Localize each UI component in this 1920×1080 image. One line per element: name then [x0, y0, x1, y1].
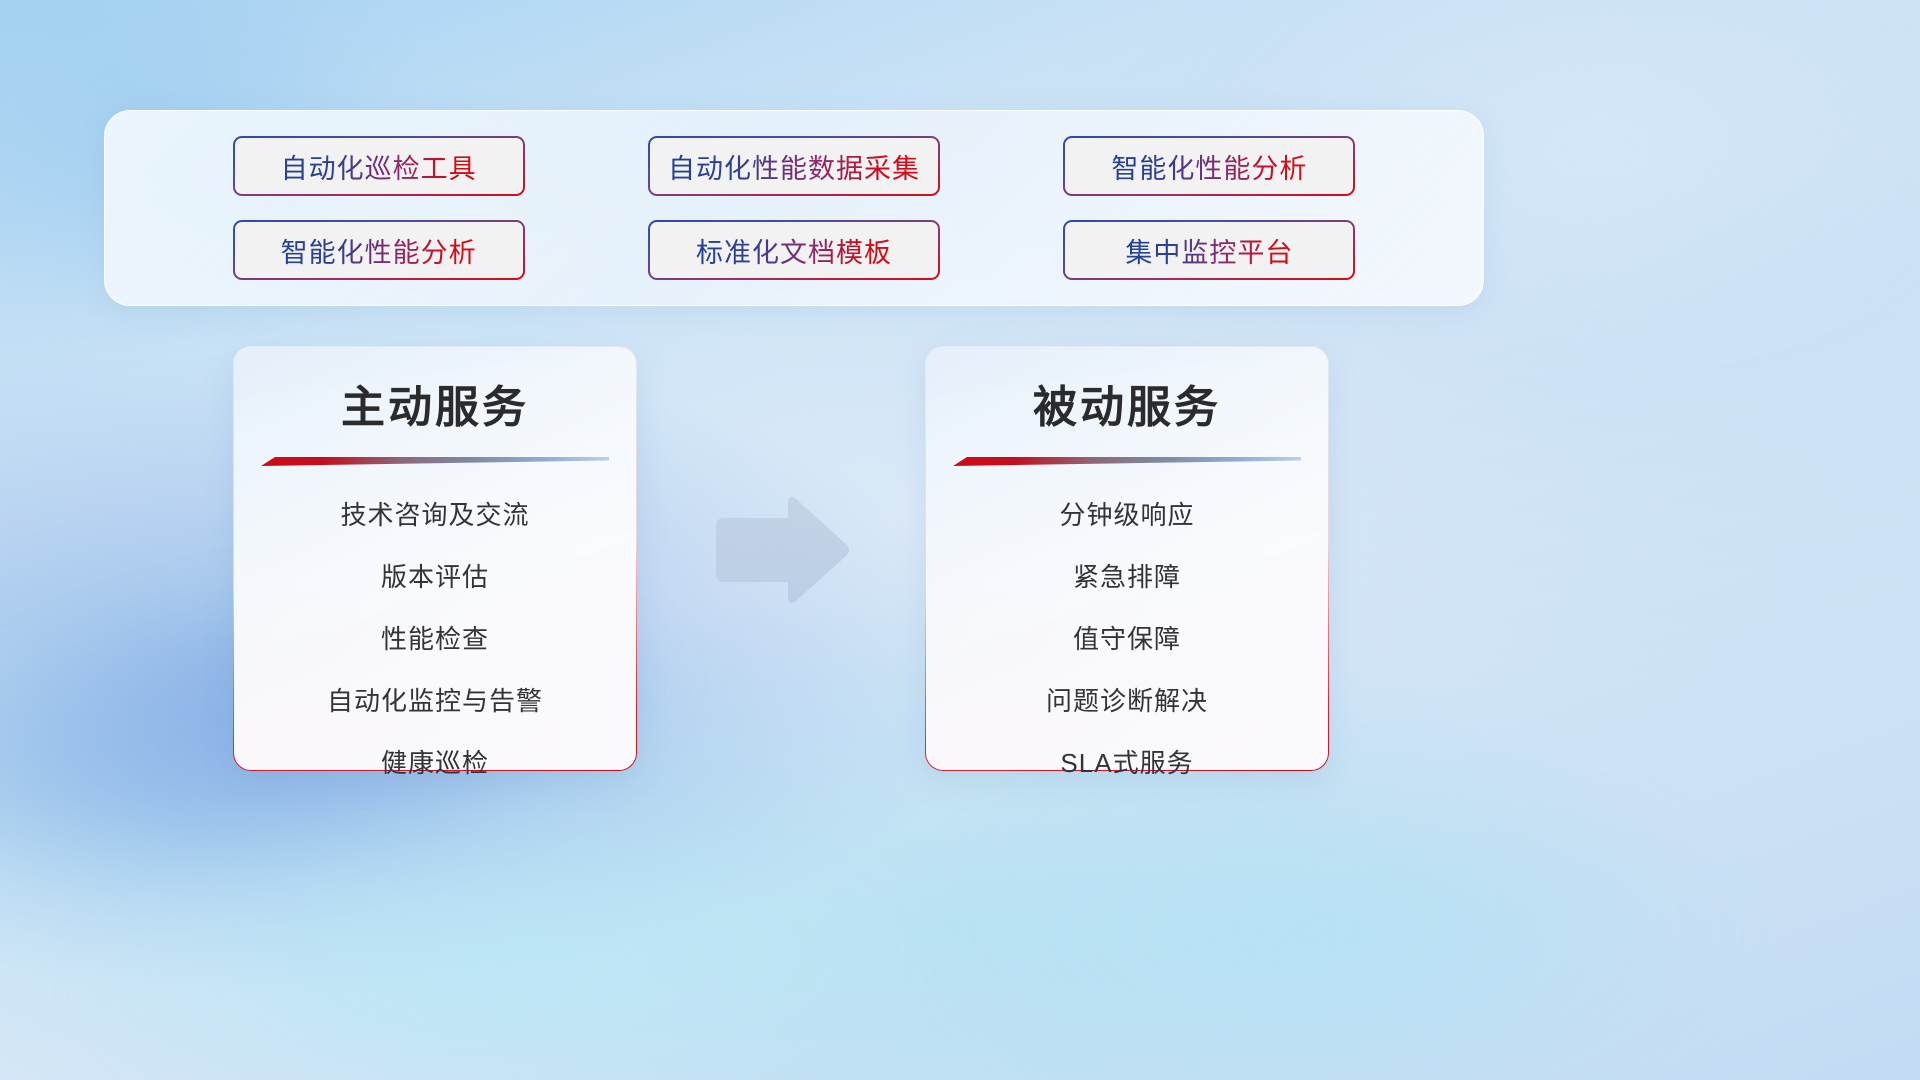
card-item-list: 技术咨询及交流 版本评估 性能检查 自动化监控与告警 健康巡检 [234, 495, 636, 780]
capability-pill-label: 自动化性能数据采集 [668, 147, 920, 186]
card-divider [953, 455, 1301, 469]
service-card-reactive: 被动服务 分钟级响应 紧急排障 值守保障 [925, 346, 1329, 771]
right-arrow-icon [712, 496, 852, 604]
capability-pill-label: 标准化文档模板 [696, 231, 892, 270]
card-item-list: 分钟级响应 紧急排障 值守保障 问题诊断解决 SLA式服务 [926, 495, 1328, 780]
card-list-item: 紧急排障 [1073, 557, 1181, 594]
card-list-item: 技术咨询及交流 [340, 495, 529, 532]
capability-pill-label: 智能化性能分析 [1111, 147, 1307, 186]
card-list-item: 健康巡检 [381, 743, 489, 780]
capability-pill[interactable]: 自动化性能数据采集 [648, 136, 940, 196]
card-list-item: 版本评估 [381, 557, 489, 594]
card-list-item: 值守保障 [1073, 619, 1181, 656]
capabilities-panel: 自动化巡检工具 自动化性能数据采集 智能化性能分析 智能化性能分析 标准化文档模… [104, 110, 1484, 306]
capability-pill-grid: 自动化巡检工具 自动化性能数据采集 智能化性能分析 智能化性能分析 标准化文档模… [105, 111, 1483, 305]
capability-pill[interactable]: 智能化性能分析 [1063, 136, 1355, 196]
capability-pill-label: 智能化性能分析 [281, 231, 477, 270]
capability-pill[interactable]: 标准化文档模板 [648, 220, 940, 280]
capability-pill[interactable]: 自动化巡检工具 [233, 136, 525, 196]
card-list-item: 性能检查 [381, 619, 489, 656]
card-list-item: 自动化监控与告警 [327, 681, 543, 718]
card-title: 被动服务 [926, 371, 1328, 435]
slide-canvas: 自动化巡检工具 自动化性能数据采集 智能化性能分析 智能化性能分析 标准化文档模… [0, 0, 1920, 1080]
capability-pill[interactable]: 智能化性能分析 [233, 220, 525, 280]
capability-pill-label: 自动化巡检工具 [281, 147, 477, 186]
card-list-item: 问题诊断解决 [1046, 681, 1208, 718]
card-list-item: SLA式服务 [1060, 743, 1193, 780]
card-title: 主动服务 [234, 371, 636, 435]
service-card-proactive: 主动服务 技术咨询及交流 版本评估 性能检查 [233, 346, 637, 771]
card-divider [261, 455, 609, 469]
capability-pill-label: 集中监控平台 [1125, 231, 1293, 270]
card-list-item: 分钟级响应 [1059, 495, 1194, 532]
capability-pill[interactable]: 集中监控平台 [1063, 220, 1355, 280]
